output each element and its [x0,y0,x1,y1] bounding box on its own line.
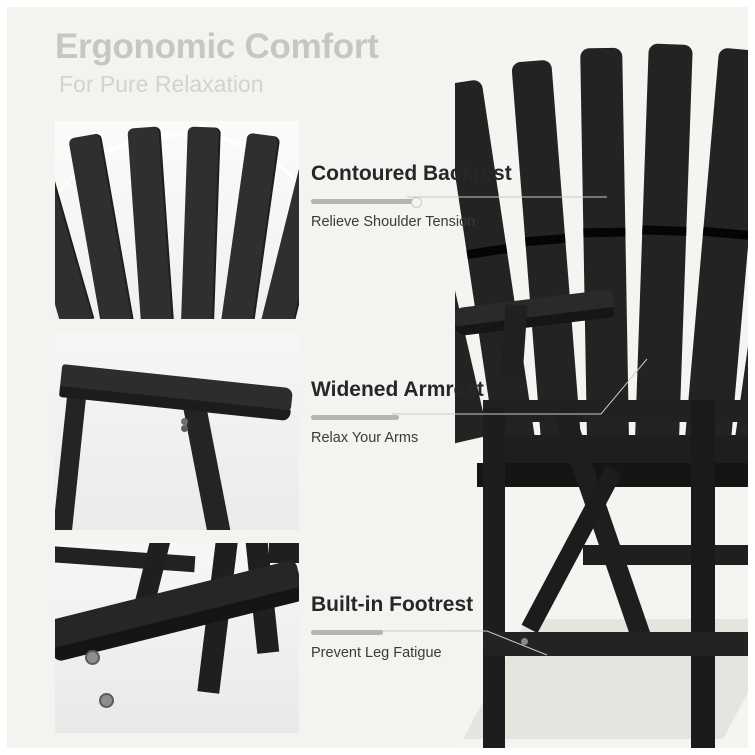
feature-subtitle: Relax Your Arms [311,430,641,446]
promo-banner: Ergonomic Comfort For Pure Relaxation [0,0,755,755]
thumb-armrest-leg [55,377,88,530]
thumb-footrest-bolt [85,650,100,665]
divider-bar [311,199,416,204]
divider-dot [411,197,422,208]
thumb-backrest-slat [181,127,221,319]
feature-thumbnail-backrest [55,121,299,319]
thumb-armrest-leg [183,404,230,530]
thumb-armrest-bolt [181,418,188,425]
feature-thumbnail-armrest [55,332,299,530]
feature-title: Widened Armrest [311,378,641,402]
chair-front-leg [483,408,505,748]
chair-mid-rail [583,545,755,565]
feature-block-footrest: Built-in Footrest Prevent Leg Fatigue [311,593,641,661]
feature-title: Built-in Footrest [311,593,641,617]
feature-divider [311,413,641,421]
divider-bar [311,630,383,635]
feature-divider [311,197,641,205]
page-subtitle: For Pure Relaxation [59,71,379,97]
feature-divider [311,628,641,636]
chair-back-leg [691,400,715,750]
thumb-footrest-leg [269,543,299,563]
thumb-footrest-rail [55,546,195,572]
feature-block-armrest: Widened Armrest Relax Your Arms [311,378,641,446]
thumb-armrest-plank [60,364,293,414]
heading-block: Ergonomic Comfort For Pure Relaxation [55,27,379,98]
page-title: Ergonomic Comfort [55,27,379,67]
feature-title: Contoured Backrest [311,162,641,186]
feature-block-backrest: Contoured Backrest Relieve Shoulder Tens… [311,162,641,230]
feature-subtitle: Relieve Shoulder Tension [311,214,641,230]
feature-subtitle: Prevent Leg Fatigue [311,645,641,661]
feature-thumbnail-footrest [55,543,299,733]
thumb-footrest-bolt [99,693,114,708]
divider-bar [311,415,399,420]
